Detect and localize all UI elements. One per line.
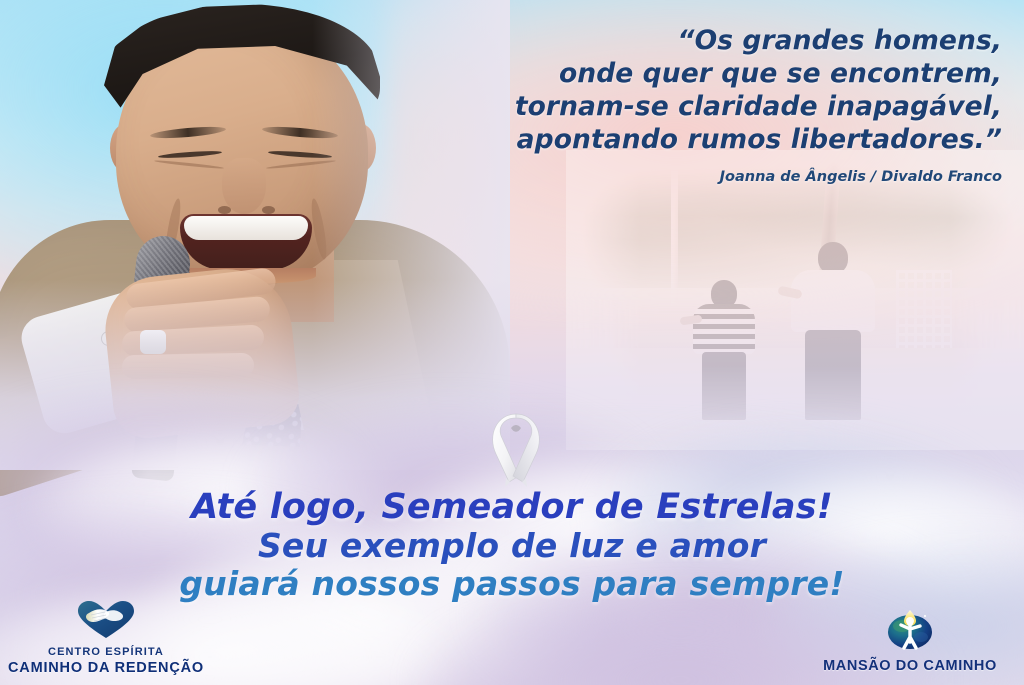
quote-line-3: tornam-se claridade inapagável, — [362, 90, 1002, 123]
memorial-poster: “Os grandes homens, onde quer que se enc… — [0, 0, 1024, 685]
logo-centro-espirita-caminho-da-redencao: CENTRO ESPÍRITA CAMINHO DA REDENÇÃO — [6, 600, 206, 677]
globe-with-figure-and-flame-icon — [804, 604, 1016, 657]
quote-attribution: Joanna de Ângelis / Divaldo Franco — [362, 169, 1002, 185]
message-line-2: Seu exemplo de luz e amor — [0, 527, 1024, 565]
ghost-photo-fade — [566, 150, 1024, 450]
quote-line-2: onde quer que se encontrem, — [362, 57, 1002, 90]
portrait-bottom-fade — [0, 280, 510, 470]
logo-right-line-1: MANSÃO DO CAMINHO — [804, 657, 1016, 675]
ghost-photo-two-figures-walking — [566, 150, 1024, 450]
farewell-message: Até logo, Semeador de Estrelas! Seu exem… — [0, 487, 1024, 603]
message-line-1: Até logo, Semeador de Estrelas! — [0, 487, 1024, 527]
message-line-3: guiará nossos passos para sempre! — [0, 565, 1024, 603]
logo-left-line-2: CAMINHO DA REDENÇÃO — [6, 659, 206, 677]
quote-block: “Os grandes homens, onde quer que se enc… — [362, 24, 1002, 185]
heart-with-clasping-hands-icon — [6, 600, 206, 645]
logo-left-line-1: CENTRO ESPÍRITA — [6, 645, 206, 659]
logo-mansao-do-caminho: MANSÃO DO CAMINHO — [804, 604, 1016, 675]
quote-line-4: apontando rumos libertadores.” — [362, 123, 1002, 156]
mourning-ribbon-icon — [481, 408, 551, 488]
quote-line-1: “Os grandes homens, — [362, 24, 1002, 57]
